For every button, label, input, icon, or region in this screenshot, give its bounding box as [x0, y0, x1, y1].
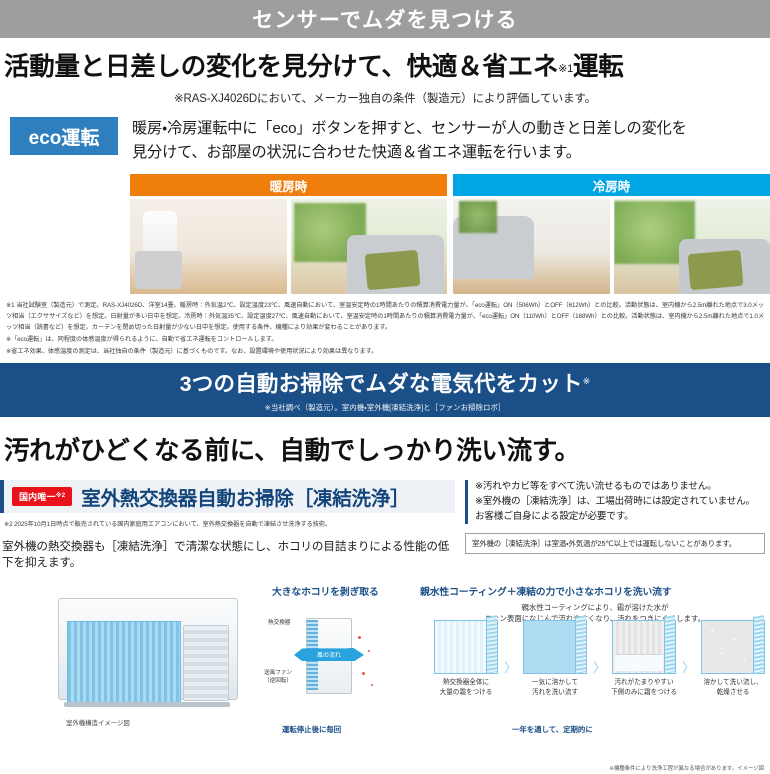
fineprint-line-2: ※「eco運転」は、同程度の体感温度が得られるように、自動で省エネ運転をコントロ…	[6, 335, 764, 346]
heating-photos	[130, 199, 447, 294]
step-caption-2-line-2: 汚れを洗い流す	[521, 688, 589, 698]
feature-left-column: 国内唯一※2 室外熱交換器自動お掃除［凍結洗浄］ ※2 2025年10月1日時点…	[0, 480, 455, 570]
auto-clean-banner-subtitle: ※当社調べ（製造元）。室内機・室外機[凍結洗浄]と［ファンお掃除ロボ］	[265, 402, 506, 413]
fan-sub-label: （逆回転）	[264, 676, 292, 684]
page-title: 活動量と日差しの変化を見分けて、快適＆省エネ※1運転	[4, 46, 770, 83]
dust-particle	[371, 684, 373, 686]
airflow-arrow-icon: 風の流れ	[294, 648, 364, 661]
step-caption-4: 溶かして洗い流し、 乾燥させる	[699, 678, 767, 697]
left-step-footer: 運転停止後に毎回	[282, 724, 341, 735]
heating-column: 暖房時	[130, 174, 447, 294]
status-badge: 国内唯一※2	[12, 487, 72, 506]
step-panel-1: 熱交換器全体に 大量の霜をつける	[432, 620, 500, 697]
outdoor-unit-illustration: 室外機構造イメージ図	[58, 584, 248, 712]
airflow-mini-diagram: 風の流れ 熱交換器 送風ファン （逆回転）	[276, 614, 376, 704]
cooling-label: 冷房時	[453, 174, 770, 196]
eco-description-row: eco運転 暖房・冷房運転中に「eco」ボタンを押すと、センサーが人の動きと日差…	[10, 117, 770, 164]
cushion-decor-2	[687, 250, 743, 291]
outdoor-unit-fins	[67, 621, 181, 707]
outdoor-unit-body	[58, 598, 238, 700]
auto-clean-banner: 3つの自動お掃除でムダな電気代をカット※ ※当社調べ（製造元）。室内機・室外機[…	[0, 363, 770, 417]
outdoor-unit-caption: 室外機構造イメージ図	[66, 718, 130, 727]
product-page: センサーでムダを見つける 活動量と日差しの変化を見分けて、快適＆省エネ※1運転 …	[0, 0, 770, 770]
feature-right-column: ※汚れやカビ等をすべて洗い流せるものではありません。 ※室外機の［凍結洗浄］は、…	[465, 480, 765, 570]
step-caption-3-line-2: 下側のみに霜をつける	[610, 688, 678, 698]
dust-particle	[358, 636, 361, 639]
fineprint-line-3: ※省エネ効果、体感温度の測定は、当社独自の条件（製造元）に基づくものです。なお、…	[6, 347, 764, 358]
panel-frost-full-icon	[434, 620, 498, 674]
panel-melt-icon	[523, 620, 587, 674]
photo-sofa-window-cool	[614, 199, 770, 294]
step-panel-4: ✦ ✦ ✦ ✦ 溶かして洗い流し、 乾燥させる	[699, 620, 767, 697]
step-caption-2: 一気に溶かして 汚れを洗い流す	[521, 678, 589, 697]
heating-label: 暖房時	[130, 174, 447, 196]
outdoor-unit-base	[64, 702, 230, 707]
feature-lead-text: 室外機の熱交換器も［凍結洗浄］で清潔な状態にし、ホコリの目詰まりによる性能の低下…	[2, 538, 455, 570]
panel-dry-icon: ✦ ✦ ✦ ✦	[701, 620, 765, 674]
step-caption-1: 熱交換器全体に 大量の霜をつける	[432, 678, 500, 697]
airflow-arrow-label: 風の流れ	[317, 650, 341, 659]
page-title-tail: 運転	[573, 53, 624, 81]
cooling-column: 冷房時	[453, 174, 770, 294]
right-step-footer: 一年を通して、定期的に	[512, 724, 593, 735]
feature-title: 室外熱交換器自動お掃除［凍結洗浄］	[81, 482, 409, 511]
step-panel-2: 一気に溶かして 汚れを洗い流す	[521, 620, 589, 697]
feature-note-2: ※室外機の［凍結洗浄］は、工場出荷時には設定されていません。	[475, 495, 765, 510]
heating-label-text: 暖房時	[270, 176, 308, 195]
section2-title: 汚れがひどくなる前に、自動でしっかり洗い流す。	[4, 430, 770, 467]
step-caption-3-line-1: 汚れがたまりやすい	[610, 678, 678, 688]
freeze-wash-diagram: 室外機構造イメージ図 大きなホコリを剥ぎ取る 親水性コーティング＋凍結の力で小さ…	[0, 576, 770, 774]
right-step-subtext-line-1: 親水性コーティングにより、霜が溶けた水が	[430, 602, 760, 613]
photo-strip: 暖房時 冷房時	[130, 174, 770, 294]
feature-footnote: ※2 2025年10月1日時点で販売されている国内家庭用エアコンにおいて、室外熱…	[4, 519, 455, 528]
outdoor-unit-grill	[183, 625, 229, 701]
photo-sofa-window-warm	[291, 199, 448, 294]
step-caption-3: 汚れがたまりやすい 下側のみに霜をつける	[610, 678, 678, 697]
eco-description: 暖房・冷房運転中に「eco」ボタンを押すと、センサーが人の動きと日差しの変化を …	[132, 117, 687, 164]
fan-label: 送風ファン	[264, 668, 292, 676]
step-caption-1-line-1: 熱交換器全体に	[432, 678, 500, 688]
chevron-right-icon-2: 〉	[593, 657, 606, 676]
step-panel-3: 汚れがたまりやすい 下側のみに霜をつける	[610, 620, 678, 697]
freeze-wash-steps: 熱交換器全体に 大量の霜をつける 〉 一気に溶かして 汚れを洗い流す 〉 汚れが…	[432, 620, 767, 697]
eco-description-line-2: 見分けて、お部屋の状況に合わせた快適＆省エネ運転を行います。	[132, 141, 687, 165]
feature-title-bar: 国内唯一※2 室外熱交換器自動お掃除［凍結洗浄］	[0, 480, 455, 513]
step-caption-1-line-2: 大量の霜をつける	[432, 688, 500, 698]
photo-person-standing	[130, 199, 287, 294]
feature-row: 国内唯一※2 室外熱交換器自動お掃除［凍結洗浄］ ※2 2025年10月1日時点…	[0, 480, 770, 570]
sensor-banner: センサーでムダを見つける	[0, 0, 770, 38]
model-note: ※RAS-XJ4026Dにおいて、メーカー独自の条件（製造元）により評価していま…	[0, 90, 770, 106]
section1-fineprint: ※1 当社試験室（製造元）で測定。RAS-XJ4026D、洋室14畳、暖房時：外…	[6, 301, 764, 357]
eco-mode-chip-label: eco運転	[29, 123, 100, 150]
step-caption-4-line-2: 乾燥させる	[699, 688, 767, 698]
heat-exchanger-label: 熱交換器	[268, 618, 290, 626]
diagram-tail-note: ※機種条件により洗浄工程が異なる場合があります。イメージ図	[609, 764, 764, 772]
dust-particle	[362, 672, 365, 675]
temperature-caution-box: 室外機の［凍結洗浄］は室温・外気温が25℃以上では運転しないことがあります。	[465, 533, 765, 554]
sensor-banner-title: センサーでムダを見つける	[252, 4, 518, 34]
chevron-right-icon-3: 〉	[682, 657, 695, 676]
right-step-title: 親水性コーティング＋凍結の力で小さなホコリを洗い流す	[420, 584, 672, 598]
feature-note-1: ※汚れやカビ等をすべて洗い流せるものではありません。	[475, 480, 765, 495]
fineprint-line-1: ※1 当社試験室（製造元）で測定。RAS-XJ4026D、洋室14畳、暖房時：外…	[6, 301, 764, 334]
feature-note-3: お客様ご自身による設定が必要です。	[475, 510, 765, 525]
panel-frost-lower-icon	[612, 620, 676, 674]
page-title-text: 活動量と日差しの変化を見分けて、快適＆省エネ	[4, 53, 558, 81]
cooling-photos	[453, 199, 770, 294]
eco-mode-chip: eco運転	[10, 117, 118, 155]
auto-clean-banner-title: 3つの自動お掃除でムダな電気代をカット※	[180, 367, 591, 398]
status-badge-footnote-marker: ※2	[56, 493, 66, 499]
step-caption-4-line-1: 溶かして洗い流し、	[699, 678, 767, 688]
dust-particle	[368, 650, 370, 652]
photo-woman-sofa	[453, 199, 610, 294]
feature-notes: ※汚れやカビ等をすべて洗い流せるものではありません。 ※室外機の［凍結洗浄］は、…	[465, 480, 765, 524]
chevron-right-icon-1: 〉	[504, 657, 517, 676]
cooling-label-text: 冷房時	[593, 176, 631, 195]
step-caption-2-line-1: 一気に溶かして	[521, 678, 589, 688]
eco-description-line-1: 暖房・冷房運転中に「eco」ボタンを押すと、センサーが人の動きと日差しの変化を	[132, 117, 687, 141]
status-badge-label: 国内唯一	[19, 492, 56, 502]
left-step-title: 大きなホコリを剥ぎ取る	[272, 584, 379, 598]
auto-clean-banner-footnote-marker: ※	[583, 376, 591, 386]
cushion-decor	[364, 250, 420, 291]
auto-clean-banner-title-text: 3つの自動お掃除でムダな電気代をカット	[180, 372, 583, 396]
page-title-footnote-marker: ※1	[558, 63, 573, 75]
